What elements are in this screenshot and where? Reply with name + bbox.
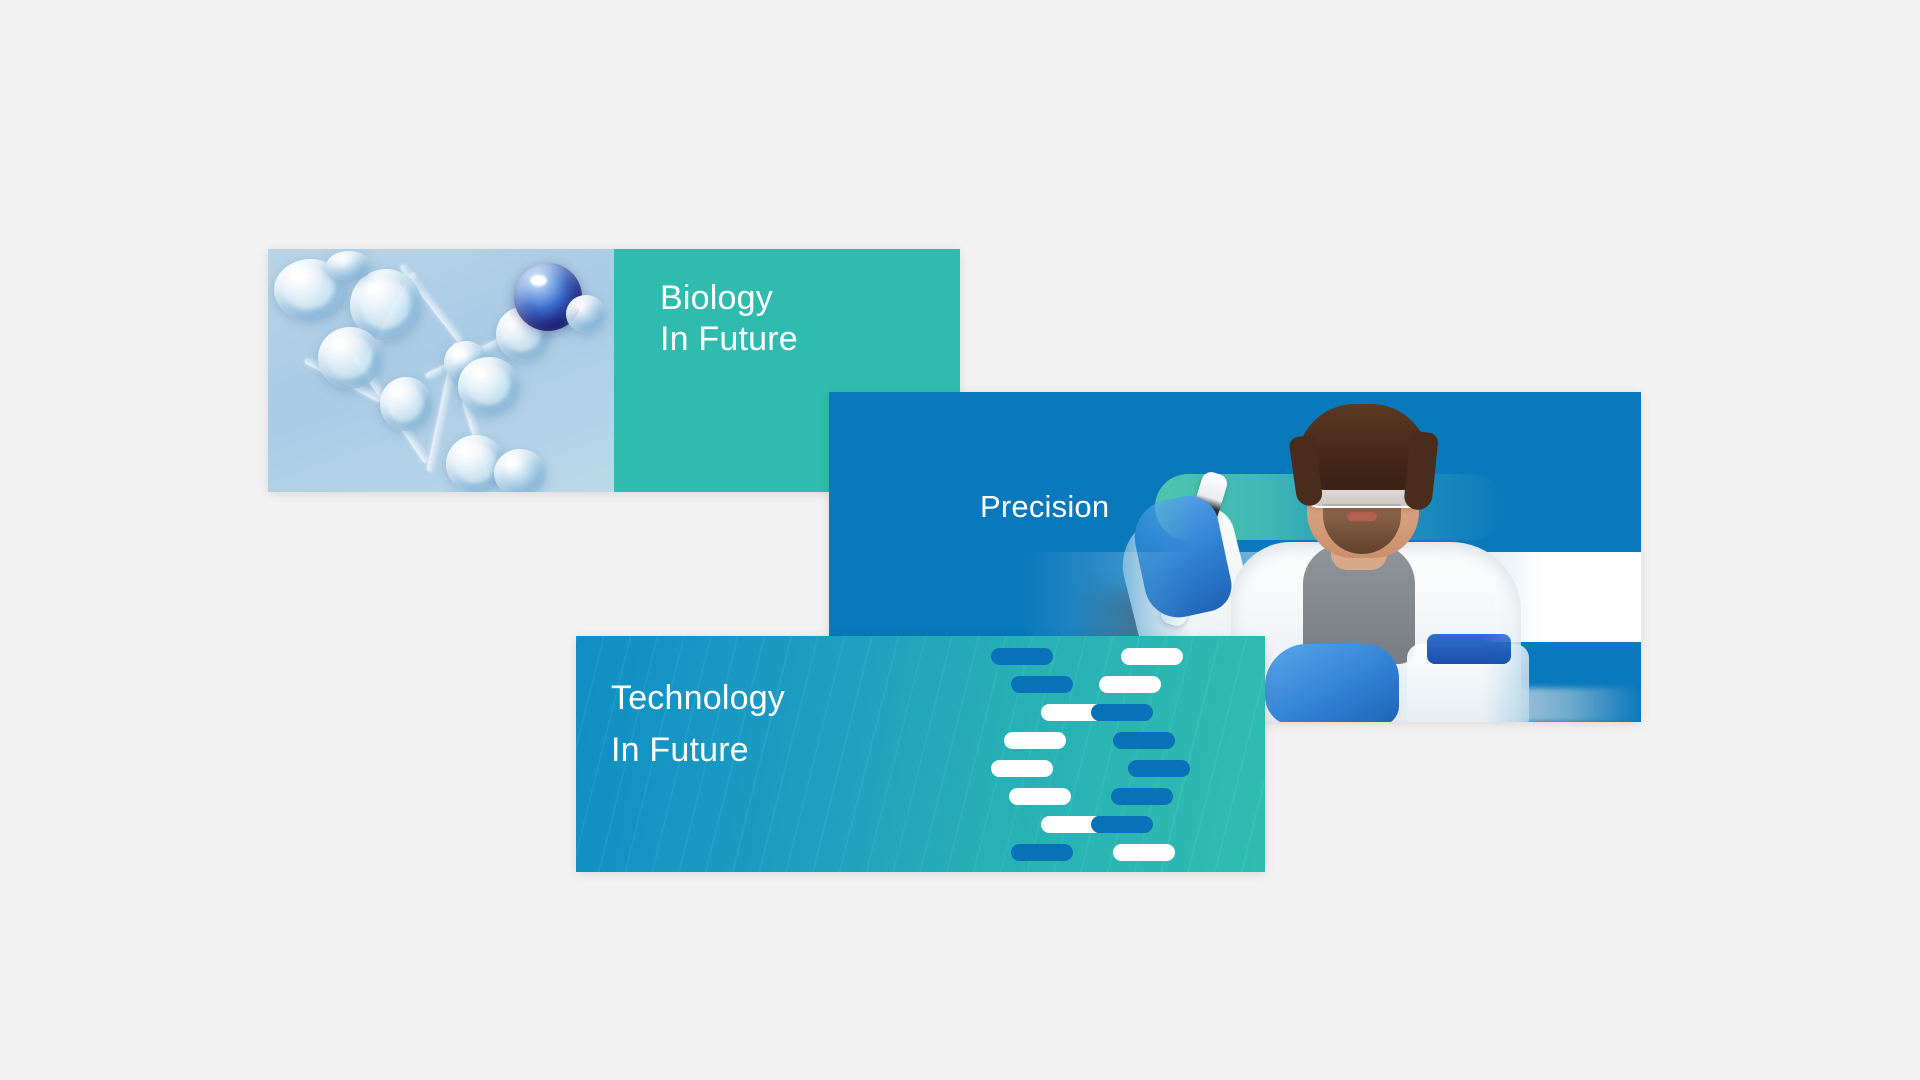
photo-glove-right	[1265, 644, 1399, 722]
molecule-atom	[318, 327, 382, 389]
molecule-atom	[494, 449, 546, 492]
dna-band	[1099, 676, 1161, 693]
molecule-atom	[326, 251, 372, 281]
dna-gel-ladder-graphic	[991, 648, 1211, 868]
dna-band	[1091, 704, 1153, 721]
molecule-atom	[458, 357, 520, 415]
biology-title: Biology In Future	[660, 278, 798, 360]
dna-band	[1009, 788, 1071, 805]
photo-lips	[1347, 512, 1377, 521]
dna-band	[1128, 760, 1190, 777]
dna-band	[1011, 844, 1073, 861]
dna-band	[1111, 788, 1173, 805]
dna-band	[1113, 732, 1175, 749]
molecule-atom	[566, 295, 606, 333]
dna-band	[1113, 844, 1175, 861]
dna-band	[1091, 816, 1153, 833]
molecule-atom	[380, 377, 432, 431]
dna-band	[1121, 648, 1183, 665]
dna-band	[991, 648, 1053, 665]
molecule-image	[268, 249, 614, 492]
technology-title: Technology In Future	[611, 672, 785, 776]
technology-banner-card[interactable]: Technology In Future	[576, 636, 1265, 872]
photo-bottle-cap	[1427, 634, 1511, 664]
dna-band	[1004, 732, 1066, 749]
canvas: Biology In Future BIOASSIST 佰奥斯特	[0, 0, 1920, 1080]
dna-band	[991, 760, 1053, 777]
dna-band	[1011, 676, 1073, 693]
